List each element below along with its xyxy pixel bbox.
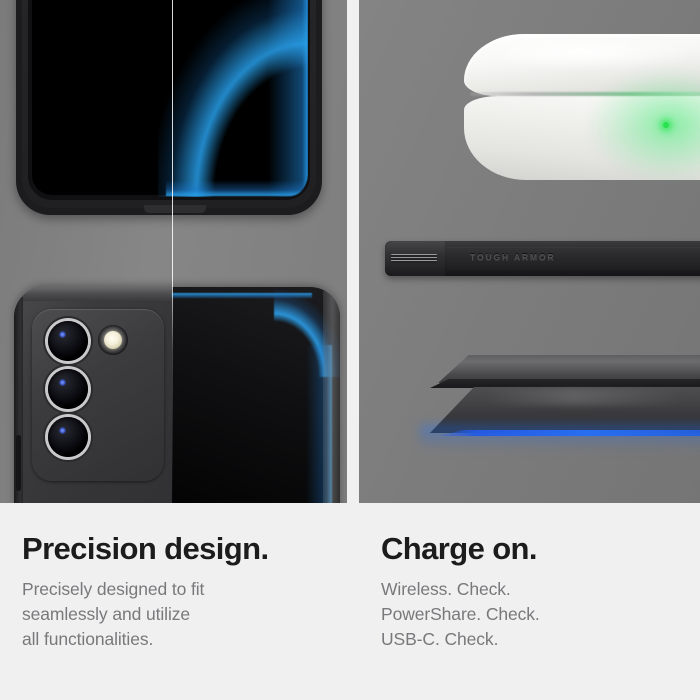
text-column-charge-on: Charge on. Wireless. Check. PowerShare. … xyxy=(381,503,691,652)
camera-lens-icon-2 xyxy=(48,369,88,409)
blue-led-glow-icon xyxy=(420,425,700,451)
panel-precision-design xyxy=(0,0,347,503)
case-grip-lines-icon xyxy=(391,254,437,263)
body-line: Precisely designed to fit xyxy=(22,577,342,602)
product-feature-image: TOUGH ARMOR Precision design. Precisely … xyxy=(0,0,700,700)
body-charge-on: Wireless. Check. PowerShare. Check. USB-… xyxy=(381,577,691,652)
pad-top-face xyxy=(438,355,700,383)
headline-precision-design: Precision design. xyxy=(22,533,342,564)
blue-led-strip-icon xyxy=(432,430,700,436)
camera-lens-icon-1 xyxy=(48,321,88,361)
body-line: seamlessly and utilize xyxy=(22,602,342,627)
camera-lens-icon-3 xyxy=(48,417,88,457)
case-right-edge xyxy=(323,291,340,503)
phone-back-with-case xyxy=(14,287,340,503)
phone-front-with-case xyxy=(16,0,322,215)
earbuds-charging-case xyxy=(464,34,700,182)
image-band: TOUGH ARMOR xyxy=(0,0,700,503)
blue-edge-glow-bottom-icon xyxy=(166,180,306,196)
pad-rim xyxy=(430,379,700,388)
phone-case-side-profile: TOUGH ARMOR xyxy=(385,241,700,276)
comparison-split-line xyxy=(172,0,173,503)
speaker-cutout xyxy=(144,205,206,213)
wireless-charging-pad xyxy=(414,355,700,447)
text-column-precision-design: Precision design. Precisely designed to … xyxy=(22,503,342,652)
panel-divider-gap xyxy=(347,0,359,503)
body-line: all functionalities. xyxy=(22,627,342,652)
camera-island xyxy=(32,309,164,481)
panel-charge-on: TOUGH ARMOR xyxy=(359,0,700,503)
body-line: USB-C. Check. xyxy=(381,627,691,652)
body-line: Wireless. Check. xyxy=(381,577,691,602)
green-charging-led-icon xyxy=(663,122,669,128)
text-band: Precision design. Precisely designed to … xyxy=(0,503,700,700)
blue-edge-glow-right-icon xyxy=(158,0,308,197)
body-precision-design: Precisely designed to fit seamlessly and… xyxy=(22,577,342,652)
pad-specular-highlight xyxy=(484,389,684,405)
led-flash-icon xyxy=(98,325,128,355)
specular-highlight xyxy=(500,40,700,70)
side-button xyxy=(16,435,21,491)
headline-charge-on: Charge on. xyxy=(381,533,691,564)
tough-armor-embossed-label: TOUGH ARMOR xyxy=(470,252,556,262)
body-line: PowerShare. Check. xyxy=(381,602,691,627)
phone-back-glass-right-half xyxy=(172,287,340,503)
